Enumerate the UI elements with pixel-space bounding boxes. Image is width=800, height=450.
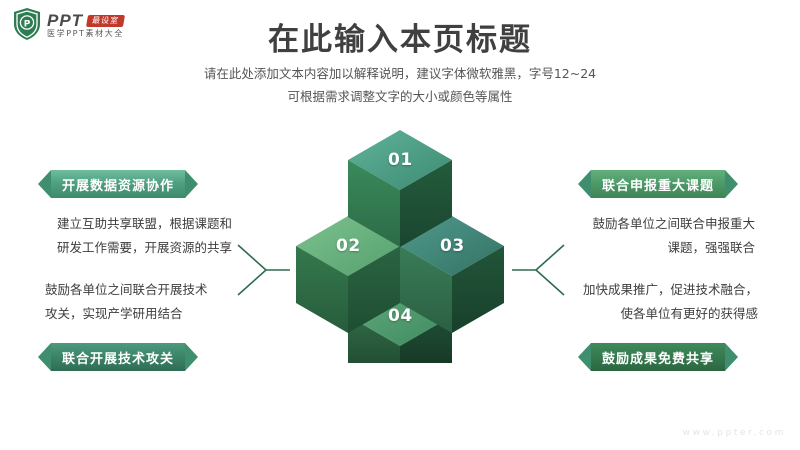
text-block-bottom-left: 鼓励各单位之间联合开展技术 攻关，实现产学研用结合 <box>45 278 208 327</box>
arrow-right-icon <box>185 343 198 371</box>
text-line: 使各单位有更好的获得感 <box>583 302 758 326</box>
slide-canvas: P PPT 最设室 医学PPT素材大全 在此输入本页标题 请在此处添加文本内容加… <box>0 0 800 450</box>
text-line: 攻关，实现产学研用结合 <box>45 302 208 326</box>
text-line: 课题，强强联合 <box>592 236 755 260</box>
ribbon-bottom-right[interactable]: 鼓励成果免费共享 <box>578 343 738 371</box>
arrow-left-icon <box>578 343 591 371</box>
connector-left <box>236 243 292 299</box>
page-title: 在此输入本页标题 <box>0 14 800 59</box>
isometric-cube-diagram: 01 02 03 04 <box>295 128 505 363</box>
text-line: 建立互助共享联盟，根据课题和 <box>57 212 232 236</box>
subtitle-line-2: 可根据需求调整文字的大小或颜色等属性 <box>0 85 800 108</box>
text-line: 加快成果推广，促进技术融合， <box>583 278 758 302</box>
arrow-left-icon <box>38 343 51 371</box>
ribbon-bottom-left-label: 联合开展技术攻关 <box>51 343 185 371</box>
ribbon-top-right[interactable]: 联合申报重大课题 <box>578 170 738 198</box>
text-block-bottom-right: 加快成果推广，促进技术融合， 使各单位有更好的获得感 <box>583 278 758 327</box>
connector-right <box>510 243 566 299</box>
text-line: 研发工作需要，开展资源的共享 <box>57 236 232 260</box>
arrow-left-icon <box>38 170 51 198</box>
ribbon-bottom-right-label: 鼓励成果免费共享 <box>591 343 725 371</box>
arrow-right-icon <box>725 170 738 198</box>
cube-02-number: 02 <box>336 236 361 256</box>
cube-01-number: 01 <box>388 150 413 170</box>
ribbon-top-right-label: 联合申报重大课题 <box>591 170 725 198</box>
ribbon-top-left-label: 开展数据资源协作 <box>51 170 185 198</box>
page-subtitle: 请在此处添加文本内容加以解释说明，建议字体微软雅黑，字号12~24 可根据需求调… <box>0 62 800 108</box>
text-line: 鼓励各单位之间联合开展技术 <box>45 278 208 302</box>
text-block-top-right: 鼓励各单位之间联合申报重大 课题，强强联合 <box>592 212 755 261</box>
arrow-left-icon <box>578 170 591 198</box>
subtitle-line-1: 请在此处添加文本内容加以解释说明，建议字体微软雅黑，字号12~24 <box>0 62 800 85</box>
cube-04-number: 04 <box>388 306 413 326</box>
arrow-right-icon <box>185 170 198 198</box>
arrow-right-icon <box>725 343 738 371</box>
cube-03-number: 03 <box>440 236 465 256</box>
text-block-top-left: 建立互助共享联盟，根据课题和 研发工作需要，开展资源的共享 <box>57 212 232 261</box>
text-line: 鼓励各单位之间联合申报重大 <box>592 212 755 236</box>
footer-watermark: www.ppter.com <box>683 428 786 438</box>
ribbon-bottom-left[interactable]: 联合开展技术攻关 <box>38 343 198 371</box>
ribbon-top-left[interactable]: 开展数据资源协作 <box>38 170 198 198</box>
